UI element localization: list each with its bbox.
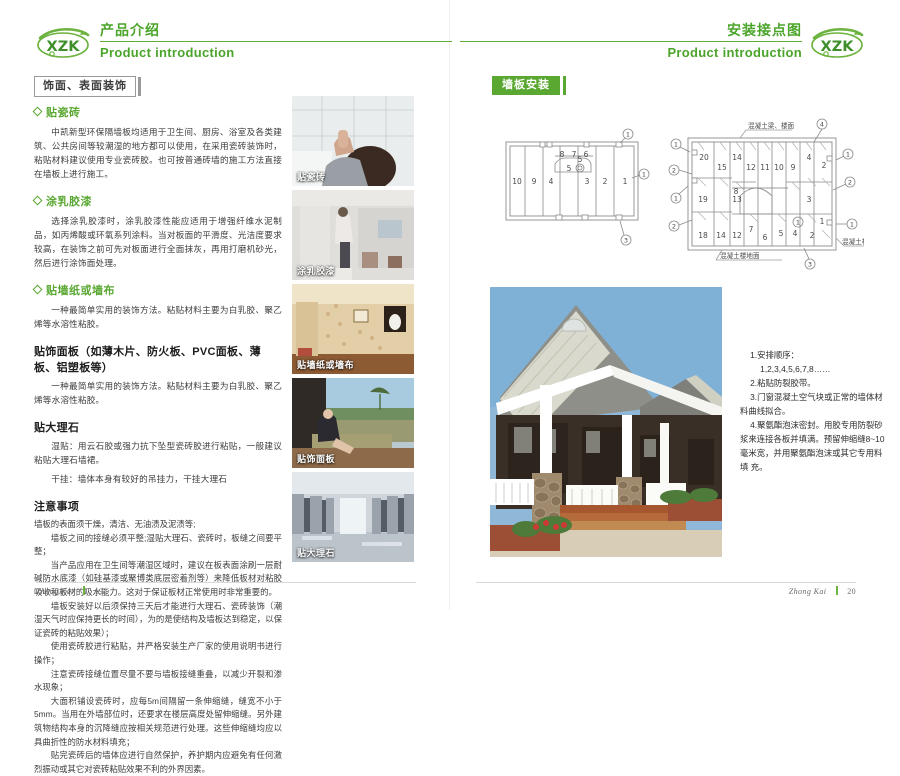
- photo-art: [490, 287, 722, 557]
- footer-right: Zhong Kai 20: [789, 586, 856, 596]
- footer-left: Zhong Kai 19: [36, 586, 103, 596]
- svg-text:XZK: XZK: [821, 39, 855, 55]
- note-item: 使用瓷砖胶进行粘贴，并严格安装生产厂家的使用说明书进行操作；: [34, 640, 282, 667]
- svg-text:2: 2: [848, 179, 852, 187]
- install-note-4: 4.聚氨酯泡沫密封。用胶专用防裂砂浆来连接各板并填满。预留伸缩缝8~10毫米宽，…: [740, 418, 890, 474]
- svg-text:7: 7: [749, 225, 754, 234]
- svg-text:4: 4: [793, 229, 798, 238]
- photo-house-exterior: [490, 287, 722, 557]
- photo-tiling: 贴瓷砖: [292, 96, 414, 186]
- svg-text:5: 5: [779, 229, 784, 238]
- photo-wallpaper: 贴墙纸或墙布: [292, 284, 414, 374]
- note-item: 墙板之间的接缝必须平整;湿贴大理石、瓷砖时，板缝之间要平整；: [34, 532, 282, 559]
- svg-text:1: 1: [850, 221, 854, 229]
- diagram-label-right: 混凝土柱、墙: [842, 237, 864, 246]
- notes-list: 墙板的表面须干燥，清洁、无油渍及泥渍等; 墙板之间的接缝必须平整;湿贴大理石、瓷…: [34, 518, 282, 776]
- svg-text:2: 2: [672, 223, 676, 231]
- svg-text:13: 13: [732, 195, 742, 204]
- brochure-spread: XZK 产品介绍 Product introduction XZK 安装接点图 …: [0, 0, 900, 610]
- svg-text:2: 2: [672, 167, 676, 175]
- footer-separator: [83, 586, 85, 595]
- svg-text:3: 3: [585, 177, 590, 186]
- footer-page-number: 20: [847, 587, 856, 596]
- svg-text:5: 5: [578, 155, 583, 164]
- svg-text:1: 1: [626, 131, 630, 139]
- svg-text:3: 3: [807, 195, 812, 204]
- svg-text:9: 9: [791, 163, 796, 172]
- photo-strip: 贴瓷砖 涂乳胶漆: [292, 96, 414, 566]
- svg-text:4: 4: [549, 177, 554, 186]
- svg-text:7: 7: [572, 150, 577, 159]
- photo-marble: 贴大理石: [292, 472, 414, 562]
- xzk-logo: XZK: [806, 26, 868, 62]
- svg-text:10: 10: [774, 163, 784, 172]
- paragraph-tiling: 中凯新型环保隔墙板均适用于卫生间、厨房、浴室及各类建筑、公共房间等较潮湿的地方都…: [34, 125, 282, 181]
- svg-text:8: 8: [734, 187, 739, 196]
- photo-caption: 贴墙纸或墙布: [297, 358, 354, 371]
- install-note-2: 2.粘贴防裂胶带。: [740, 376, 890, 390]
- section-tag-label: 墙板安装: [502, 79, 550, 91]
- svg-text:6: 6: [584, 150, 589, 159]
- diamond-bullet-icon: [33, 285, 43, 295]
- footer-page-number: 19: [94, 587, 103, 596]
- diagram-svg: 10 9 4 5 5 3 2 1 8 7 6: [492, 112, 864, 282]
- section-tag-wall-panel-install: 墙板安装: [492, 76, 560, 95]
- install-note-3: 3.门窗混凝土空气块或正常的墙体材料曲线拟合。: [740, 390, 890, 418]
- svg-text:15: 15: [717, 163, 727, 172]
- svg-text:14: 14: [716, 231, 726, 240]
- install-note-1: 1.安排顺序：: [740, 348, 890, 362]
- photo-caption: 贴大理石: [297, 546, 335, 559]
- installation-diagram: 10 9 4 5 5 3 2 1 8 7 6: [492, 112, 864, 282]
- footer-brand: Zhong Kai: [789, 587, 827, 596]
- install-note-sequence: 1,2,3,4,5,6,7,8……: [740, 362, 890, 376]
- footer-brand: Zhong Kai: [36, 587, 74, 596]
- note-item: 墙板安装好以后须保持三天后才能进行大理石、瓷砖装饰（潮湿天气时应保持更长的时间）…: [34, 600, 282, 641]
- svg-text:9: 9: [532, 177, 537, 186]
- photo-latex-paint: 涂乳胶漆: [292, 190, 414, 280]
- installation-notes: 1.安排顺序： 1,2,3,4,5,6,7,8…… 2.粘贴防裂胶带。 3.门窗…: [740, 348, 890, 474]
- diagram-label-top: 混凝土梁、楼面: [748, 121, 795, 130]
- svg-text:1: 1: [820, 217, 825, 226]
- diagram-label-bottom: 混凝土楼地面: [720, 251, 760, 260]
- photo-caption: 贴瓷砖: [297, 170, 326, 183]
- svg-text:18: 18: [698, 231, 708, 240]
- svg-text:3: 3: [624, 237, 628, 245]
- footer-rule-left: [36, 582, 416, 583]
- paragraph-marble-dry: 干挂：墙体本身有较好的吊挂力，干挂大理石: [34, 472, 282, 486]
- svg-text:5: 5: [567, 164, 572, 173]
- left-text-column: 贴瓷砖 中凯新型环保隔墙板均适用于卫生间、厨房、浴室及各类建筑、公共房间等较潮湿…: [34, 104, 282, 776]
- svg-text:1: 1: [846, 151, 850, 159]
- svg-text:8: 8: [560, 150, 565, 159]
- svg-text:6: 6: [763, 233, 768, 242]
- svg-text:12: 12: [746, 163, 756, 172]
- note-item: 大面积铺设瓷砖时，应每5m间隔留一条伸缩缝，缝宽不小于5mm。当用在外墙部位时，…: [34, 695, 282, 749]
- photo-decor-panel: 贴饰面板: [292, 378, 414, 468]
- footer-rule-right: [476, 582, 856, 583]
- paragraph-decor-panel: 一种最简单实用的装饰方法。粘贴材料主要为白乳胶、聚乙烯等水溶性粘胶。: [34, 379, 282, 407]
- svg-text:20: 20: [699, 153, 709, 162]
- photo-caption: 贴饰面板: [297, 452, 335, 465]
- heading-latex-paint: 涂乳胶漆: [34, 193, 282, 209]
- section-tag-label: 饰面、表面装饰: [43, 80, 127, 92]
- svg-text:1: 1: [796, 219, 800, 227]
- section-tag-bar: [138, 77, 141, 96]
- photo-caption: 涂乳胶漆: [297, 264, 335, 277]
- svg-text:2: 2: [603, 177, 608, 186]
- heading-tiling: 贴瓷砖: [34, 104, 282, 120]
- left-header-title-en: Product introduction: [100, 42, 442, 62]
- svg-text:1: 1: [642, 171, 646, 179]
- svg-text:3: 3: [808, 261, 812, 269]
- svg-text:19: 19: [698, 195, 708, 204]
- svg-text:14: 14: [732, 153, 742, 162]
- paragraph-latex-paint: 选择涂乳胶漆时，涂乳胶漆性能应适用于增强纤维水泥制品，如丙烯酸或环氧系列涂料。当…: [34, 214, 282, 270]
- left-header-rule-extension: [212, 41, 452, 42]
- svg-text:1: 1: [674, 195, 678, 203]
- svg-text:XZK: XZK: [47, 39, 81, 55]
- right-header-title-cn: 安装接点图: [462, 22, 802, 41]
- xzk-logo: XZK: [32, 26, 94, 62]
- paragraph-marble-wet: 湿贴：用云石胶或强力抗下坠型瓷砖胶进行粘贴，一般建议粘贴大理石墙裙。: [34, 439, 282, 467]
- note-item: 贴完瓷砖后的墙体应进行自然保护，养护期内应避免有任何激烈振动或其它对瓷砖粘贴效果…: [34, 749, 282, 776]
- paragraph-wallpaper: 一种最简单实用的装饰方法。粘贴材料主要为白乳胶、聚乙烯等水溶性粘胶。: [34, 303, 282, 331]
- section-tag-surface-decoration: 饰面、表面装饰: [34, 76, 136, 97]
- page-spine: [449, 0, 450, 610]
- heading-wallpaper: 贴墙纸或墙布: [34, 282, 282, 298]
- svg-text:4: 4: [807, 153, 812, 162]
- svg-text:4: 4: [820, 121, 824, 129]
- left-header-title-cn: 产品介绍: [100, 22, 442, 41]
- svg-text:2: 2: [810, 231, 815, 240]
- heading-notes: 注意事项: [34, 498, 282, 514]
- svg-text:1: 1: [623, 177, 628, 186]
- section-tag-bar: [563, 76, 566, 95]
- svg-text:1: 1: [674, 141, 678, 149]
- heading-decor-panel: 贴饰面板（如薄木片、防火板、PVC面板、薄板、铝塑板等）: [34, 343, 282, 375]
- right-header-title-en: Product introduction: [462, 42, 802, 62]
- svg-text:2: 2: [822, 161, 827, 170]
- diamond-bullet-icon: [33, 107, 43, 117]
- diamond-bullet-icon: [33, 196, 43, 206]
- left-page-header: XZK 产品介绍 Product introduction: [32, 22, 442, 70]
- right-header-rule-extension: [460, 41, 720, 42]
- right-page-header: XZK 安装接点图 Product introduction: [462, 22, 868, 70]
- note-item: 注意瓷砖接缝位置尽量不要与墙板接缝重叠，以减少开裂和渗水现象；: [34, 668, 282, 695]
- footer-separator: [836, 586, 838, 595]
- svg-text:10: 10: [512, 177, 522, 186]
- heading-marble: 贴大理石: [34, 419, 282, 435]
- note-item: 墙板的表面须干燥，清洁、无油渍及泥渍等;: [34, 518, 282, 532]
- svg-text:11: 11: [760, 163, 770, 172]
- svg-text:12: 12: [732, 231, 742, 240]
